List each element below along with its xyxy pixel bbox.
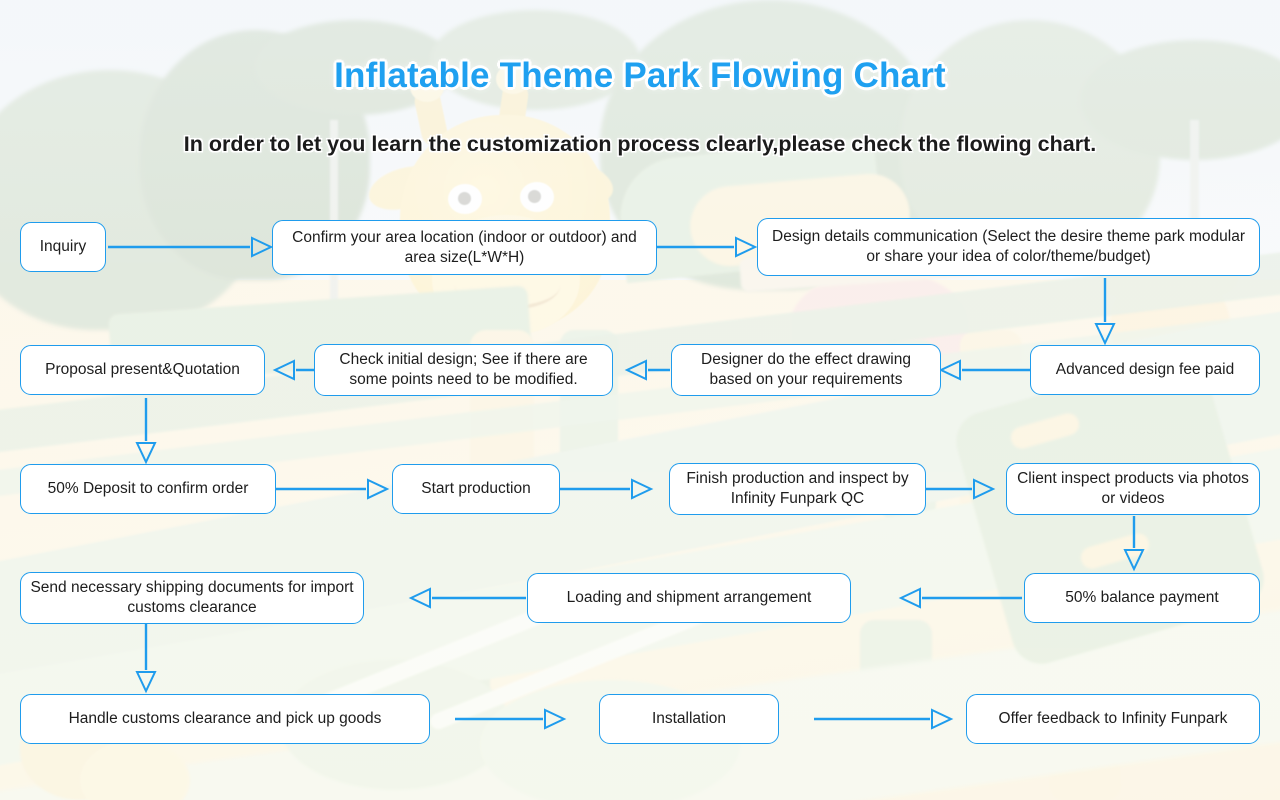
flow-node-proposal-quotation[interactable]: Proposal present&Quotation xyxy=(20,345,265,395)
edge-n4-n5 xyxy=(941,361,1030,379)
flow-node-client-inspect[interactable]: Client inspect products via photos or vi… xyxy=(1006,463,1260,515)
edge-n7-n8 xyxy=(137,398,155,462)
edge-n16-n17 xyxy=(814,710,951,728)
edge-n10-n11 xyxy=(926,480,993,498)
edge-n13-n14 xyxy=(411,589,526,607)
flow-node-finish-production-qc[interactable]: Finish production and inspect by Infinit… xyxy=(669,463,926,515)
flow-node-inquiry[interactable]: Inquiry xyxy=(20,222,106,272)
edge-n5-n6 xyxy=(627,361,670,379)
edge-n2-n3 xyxy=(657,238,755,256)
edge-n1-n2 xyxy=(108,238,271,256)
flow-node-deposit-50[interactable]: 50% Deposit to confirm order xyxy=(20,464,276,514)
edge-n15-n16 xyxy=(455,710,564,728)
edge-n14-n15 xyxy=(137,624,155,691)
flow-node-confirm-area[interactable]: Confirm your area location (indoor or ou… xyxy=(272,220,657,275)
flow-node-design-details[interactable]: Design details communication (Select the… xyxy=(757,218,1260,276)
edge-n8-n9 xyxy=(276,480,387,498)
edge-n12-n13 xyxy=(901,589,1022,607)
flow-node-shipping-documents[interactable]: Send necessary shipping documents for im… xyxy=(20,572,364,624)
flow-node-balance-payment[interactable]: 50% balance payment xyxy=(1024,573,1260,623)
flow-node-installation[interactable]: Installation xyxy=(599,694,779,744)
flow-node-customs-clearance[interactable]: Handle customs clearance and pick up goo… xyxy=(20,694,430,744)
flow-node-designer-effect-drawing[interactable]: Designer do the effect drawing based on … xyxy=(671,344,941,396)
flow-node-start-production[interactable]: Start production xyxy=(392,464,560,514)
edge-n3-n4 xyxy=(1096,278,1114,343)
flow-node-check-initial-design[interactable]: Check initial design; See if there are s… xyxy=(314,344,613,396)
flowchart-page: Inflatable Theme Park Flowing Chart In o… xyxy=(0,0,1280,800)
flow-node-offer-feedback[interactable]: Offer feedback to Infinity Funpark xyxy=(966,694,1260,744)
connector-layer xyxy=(0,0,1280,800)
edge-n11-n12 xyxy=(1125,516,1143,569)
flow-node-advanced-design-fee[interactable]: Advanced design fee paid xyxy=(1030,345,1260,395)
flow-node-loading-shipment[interactable]: Loading and shipment arrangement xyxy=(527,573,851,623)
edge-n6-n7 xyxy=(275,361,315,379)
edge-n9-n10 xyxy=(560,480,651,498)
